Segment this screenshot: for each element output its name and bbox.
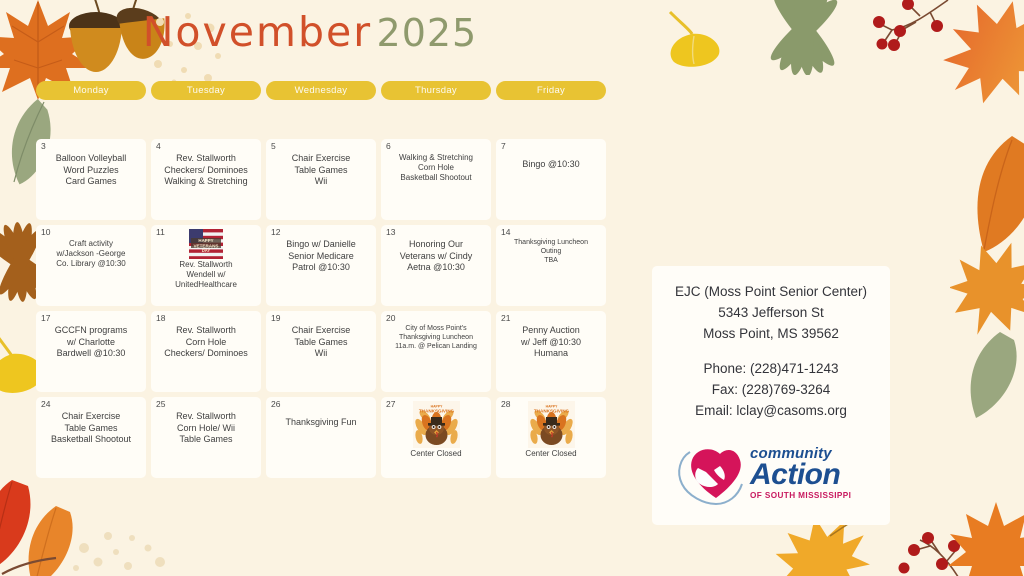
event-text: Patrol @10:30	[270, 262, 372, 274]
svg-text:THANKSGIVING: THANKSGIVING	[418, 408, 454, 413]
calendar-day-4[interactable]: 4Rev. StallworthCheckers/ DominoesWalkin…	[151, 139, 261, 220]
day-events: Center Closed	[500, 449, 602, 459]
calendar-page: November 2025 MondayTuesdayWednesdayThur…	[0, 0, 1024, 576]
day-number: 26	[271, 400, 280, 409]
event-text: Craft activity	[40, 239, 142, 249]
event-text: Walking & Stretching	[385, 153, 487, 163]
calendar-day-18[interactable]: 18Rev. StallworthCorn HoleCheckers/ Domi…	[151, 311, 261, 392]
event-text: Outing	[500, 248, 602, 257]
event-text: Walking & Stretching	[155, 176, 257, 188]
day-number: 11	[156, 228, 165, 237]
maple-leaf-orange-right-icon	[968, 132, 1024, 262]
calendar-day-27[interactable]: 27HAPPYTHANKSGIVINGCenter Closed	[381, 397, 491, 478]
calendar-grid: 3Balloon VolleyballWord PuzzlesCard Game…	[36, 139, 620, 478]
calendar-day-6[interactable]: 6Walking & StretchingCorn HoleBasketball…	[381, 139, 491, 220]
event-text: Penny Auction	[500, 325, 602, 337]
event-text: Veterans w/ Cindy	[385, 251, 487, 263]
calendar-day-25[interactable]: 25Rev. StallworthCorn Hole/ WiiTable Gam…	[151, 397, 261, 478]
event-text: w/ Jeff @10:30	[500, 337, 602, 349]
day-events: Rev. StallworthCheckers/ DominoesWalking…	[155, 153, 257, 188]
event-text: Corn Hole/ Wii	[155, 423, 257, 435]
event-text: Chair Exercise	[270, 325, 372, 337]
contact-block: Phone: (228)471-1243Fax: (228)769-3264Em…	[695, 359, 847, 422]
confetti-dots-bottom-icon	[72, 530, 182, 576]
ginkgo-leaf-yellow-top-icon	[662, 8, 732, 68]
contact-info-card: EJC (Moss Point Senior Center)5343 Jeffe…	[652, 266, 890, 525]
day-number: 5	[271, 142, 276, 151]
day-events: Chair ExerciseTable GamesWii	[270, 325, 372, 360]
day-events: Honoring OurVeterans w/ CindyAetna @10:3…	[385, 239, 487, 274]
day-number: 17	[41, 314, 50, 323]
event-text: Rev. Stallworth	[155, 153, 257, 165]
logo-action-text: Action	[750, 460, 851, 490]
calendar-day-13[interactable]: 13Honoring OurVeterans w/ CindyAetna @10…	[381, 225, 491, 306]
day-number: 7	[501, 142, 506, 151]
day-number: 28	[501, 400, 510, 409]
logo-wordmark: community Action OF SOUTH MISSISSIPPI	[750, 446, 851, 500]
autumn-leaves-bottom-left-icon	[0, 478, 152, 576]
calendar-day-12[interactable]: 12Bingo w/ DanielleSenior MedicarePatrol…	[266, 225, 376, 306]
calendar-day-11[interactable]: 11HAPPYVETERANSDAYRev. StallworthWendell…	[151, 225, 261, 306]
day-number: 3	[41, 142, 46, 151]
month-label: November	[143, 8, 372, 56]
event-text: Thanksgiving Fun	[270, 417, 372, 429]
event-text: Center Closed	[385, 449, 487, 459]
day-number: 24	[41, 400, 50, 409]
page-title: November 2025	[0, 8, 620, 56]
weekday-header-wednesday: Wednesday	[266, 81, 376, 100]
event-text: 11a.m. @ Pelican Landing	[385, 343, 487, 352]
day-events: Craft activityw/Jackson -GeorgeCo. Libra…	[40, 239, 142, 270]
address-line: Moss Point, MS 39562	[675, 324, 867, 345]
calendar-day-20[interactable]: 20City of Moss Point'sThanksgiving Lunch…	[381, 311, 491, 392]
community-action-logo: community Action OF SOUTH MISSISSIPPI	[676, 444, 866, 506]
heart-hand-icon	[676, 446, 752, 506]
maple-leaf-orange-bottom-right-icon	[946, 500, 1024, 576]
event-text: Card Games	[40, 176, 142, 188]
day-number: 27	[386, 400, 395, 409]
calendar-day-5[interactable]: 5Chair ExerciseTable GamesWii	[266, 139, 376, 220]
day-number: 21	[501, 314, 510, 323]
day-events: Thanksgiving LuncheonOutingTBA	[500, 239, 602, 266]
weekday-header-thursday: Thursday	[381, 81, 491, 100]
calendar-day-21[interactable]: 21Penny Auctionw/ Jeff @10:30Humana	[496, 311, 606, 392]
leaf-green-right-icon	[960, 330, 1024, 420]
weekday-header-friday: Friday	[496, 81, 606, 100]
event-text: Word Puzzles	[40, 165, 142, 177]
event-text: w/Jackson -George	[40, 249, 142, 259]
day-number: 19	[271, 314, 280, 323]
weekday-header-tuesday: Tuesday	[151, 81, 261, 100]
veterans-day-flag-icon: HAPPYVETERANSDAY	[155, 229, 257, 259]
day-number: 4	[156, 142, 161, 151]
event-text: UnitedHealthcare	[155, 280, 257, 290]
event-text: Thanksgiving Luncheon	[385, 334, 487, 343]
day-events: Penny Auctionw/ Jeff @10:30Humana	[500, 325, 602, 360]
event-text: Center Closed	[500, 449, 602, 459]
event-text: Bingo @10:30	[500, 159, 602, 171]
day-number: 14	[501, 228, 510, 237]
day-number: 13	[386, 228, 395, 237]
day-events: Chair ExerciseTable GamesWii	[270, 153, 372, 188]
calendar-day-28[interactable]: 28HAPPYTHANKSGIVINGCenter Closed	[496, 397, 606, 478]
calendar-day-10[interactable]: 10Craft activityw/Jackson -GeorgeCo. Lib…	[36, 225, 146, 306]
maple-leaf-orange-right-lower-icon	[950, 238, 1024, 348]
event-text: Table Games	[270, 337, 372, 349]
event-text: GCCFN programs	[40, 325, 142, 337]
day-events: Rev. StallworthWendell w/UnitedHealthcar…	[155, 260, 257, 291]
contact-line[interactable]: Fax: (228)769-3264	[695, 380, 847, 401]
event-text: Wii	[270, 348, 372, 360]
contact-line[interactable]: Email: lclay@casoms.org	[695, 401, 847, 422]
day-events: Walking & StretchingCorn HoleBasketball …	[385, 153, 487, 184]
event-text: Senior Medicare	[270, 251, 372, 263]
day-number: 18	[156, 314, 165, 323]
event-text: Checkers/ Dominoes	[155, 348, 257, 360]
maple-leaf-orange-top-right-icon	[940, 0, 1024, 114]
event-text: Basketball Shootout	[385, 173, 487, 183]
event-text: Rev. Stallworth	[155, 411, 257, 423]
day-number: 10	[41, 228, 50, 237]
event-text: TBA	[500, 257, 602, 266]
event-text: Rev. Stallworth	[155, 260, 257, 270]
svg-text:THANKSGIVING: THANKSGIVING	[533, 408, 569, 413]
event-text: Bardwell @10:30	[40, 348, 142, 360]
day-events: Balloon VolleyballWord PuzzlesCard Games	[40, 153, 142, 188]
svg-text:HAPPY: HAPPY	[198, 238, 213, 243]
event-text: Balloon Volleyball	[40, 153, 142, 165]
berry-branch-red-bottom-icon	[890, 524, 1000, 576]
logo-subtitle-text: OF SOUTH MISSISSIPPI	[750, 491, 851, 500]
address-line: 5343 Jefferson St	[675, 303, 867, 324]
calendar-day-17[interactable]: 17GCCFN programsw/ CharlotteBardwell @10…	[36, 311, 146, 392]
calendar-day-3[interactable]: 3Balloon VolleyballWord PuzzlesCard Game…	[36, 139, 146, 220]
calendar-day-14[interactable]: 14Thanksgiving LuncheonOutingTBA	[496, 225, 606, 306]
day-events: Rev. StallworthCorn Hole/ WiiTable Games	[155, 411, 257, 446]
day-number: 20	[386, 314, 395, 323]
calendar-day-24[interactable]: 24Chair ExerciseTable GamesBasketball Sh…	[36, 397, 146, 478]
event-text: Co. Library @10:30	[40, 259, 142, 269]
calendar-day-26[interactable]: 26Thanksgiving Fun	[266, 397, 376, 478]
svg-text:DAY: DAY	[202, 248, 211, 253]
day-events: Thanksgiving Fun	[270, 417, 372, 429]
event-text: Chair Exercise	[40, 411, 142, 423]
day-events: Center Closed	[385, 449, 487, 459]
event-text: Honoring Our	[385, 239, 487, 251]
address-line: EJC (Moss Point Senior Center)	[675, 282, 867, 303]
event-text: Rev. Stallworth	[155, 325, 257, 337]
contact-line[interactable]: Phone: (228)471-1243	[695, 359, 847, 380]
event-text: Chair Exercise	[270, 153, 372, 165]
happy-thanksgiving-turkey-icon: HAPPYTHANKSGIVING	[500, 401, 602, 448]
day-number: 12	[271, 228, 280, 237]
event-text: w/ Charlotte	[40, 337, 142, 349]
berry-branch-red-top-icon	[858, 0, 958, 78]
event-text: Wendell w/	[155, 270, 257, 280]
day-events: City of Moss Point'sThanksgiving Luncheo…	[385, 325, 487, 352]
day-number: 6	[386, 142, 391, 151]
day-number: 25	[156, 400, 165, 409]
event-text: Bingo w/ Danielle	[270, 239, 372, 251]
year-label: 2025	[377, 11, 478, 55]
event-text: Basketball Shootout	[40, 434, 142, 446]
day-events: Rev. StallworthCorn HoleCheckers/ Domino…	[155, 325, 257, 360]
event-text: Corn Hole	[155, 337, 257, 349]
palm-frond-green-top-icon	[740, 0, 870, 75]
address-block: EJC (Moss Point Senior Center)5343 Jeffe…	[675, 282, 867, 345]
event-text: Thanksgiving Luncheon	[500, 239, 602, 248]
event-text: Humana	[500, 348, 602, 360]
day-events: Bingo w/ DanielleSenior MedicarePatrol @…	[270, 239, 372, 274]
weekday-header-row: MondayTuesdayWednesdayThursdayFriday	[36, 81, 620, 100]
event-text: Table Games	[270, 165, 372, 177]
day-events: Chair ExerciseTable GamesBasketball Shoo…	[40, 411, 142, 446]
event-text: Checkers/ Dominoes	[155, 165, 257, 177]
event-text: Table Games	[40, 423, 142, 435]
event-text: City of Moss Point's	[385, 325, 487, 334]
day-events: Bingo @10:30	[500, 159, 602, 171]
day-events: GCCFN programsw/ CharlotteBardwell @10:3…	[40, 325, 142, 360]
event-text: Aetna @10:30	[385, 262, 487, 274]
event-text: Wii	[270, 176, 372, 188]
happy-thanksgiving-turkey-icon: HAPPYTHANKSGIVING	[385, 401, 487, 448]
event-text: Table Games	[155, 434, 257, 446]
calendar-day-19[interactable]: 19Chair ExerciseTable GamesWii	[266, 311, 376, 392]
calendar-day-7[interactable]: 7Bingo @10:30	[496, 139, 606, 220]
event-text: Corn Hole	[385, 163, 487, 173]
weekday-header-monday: Monday	[36, 81, 146, 100]
